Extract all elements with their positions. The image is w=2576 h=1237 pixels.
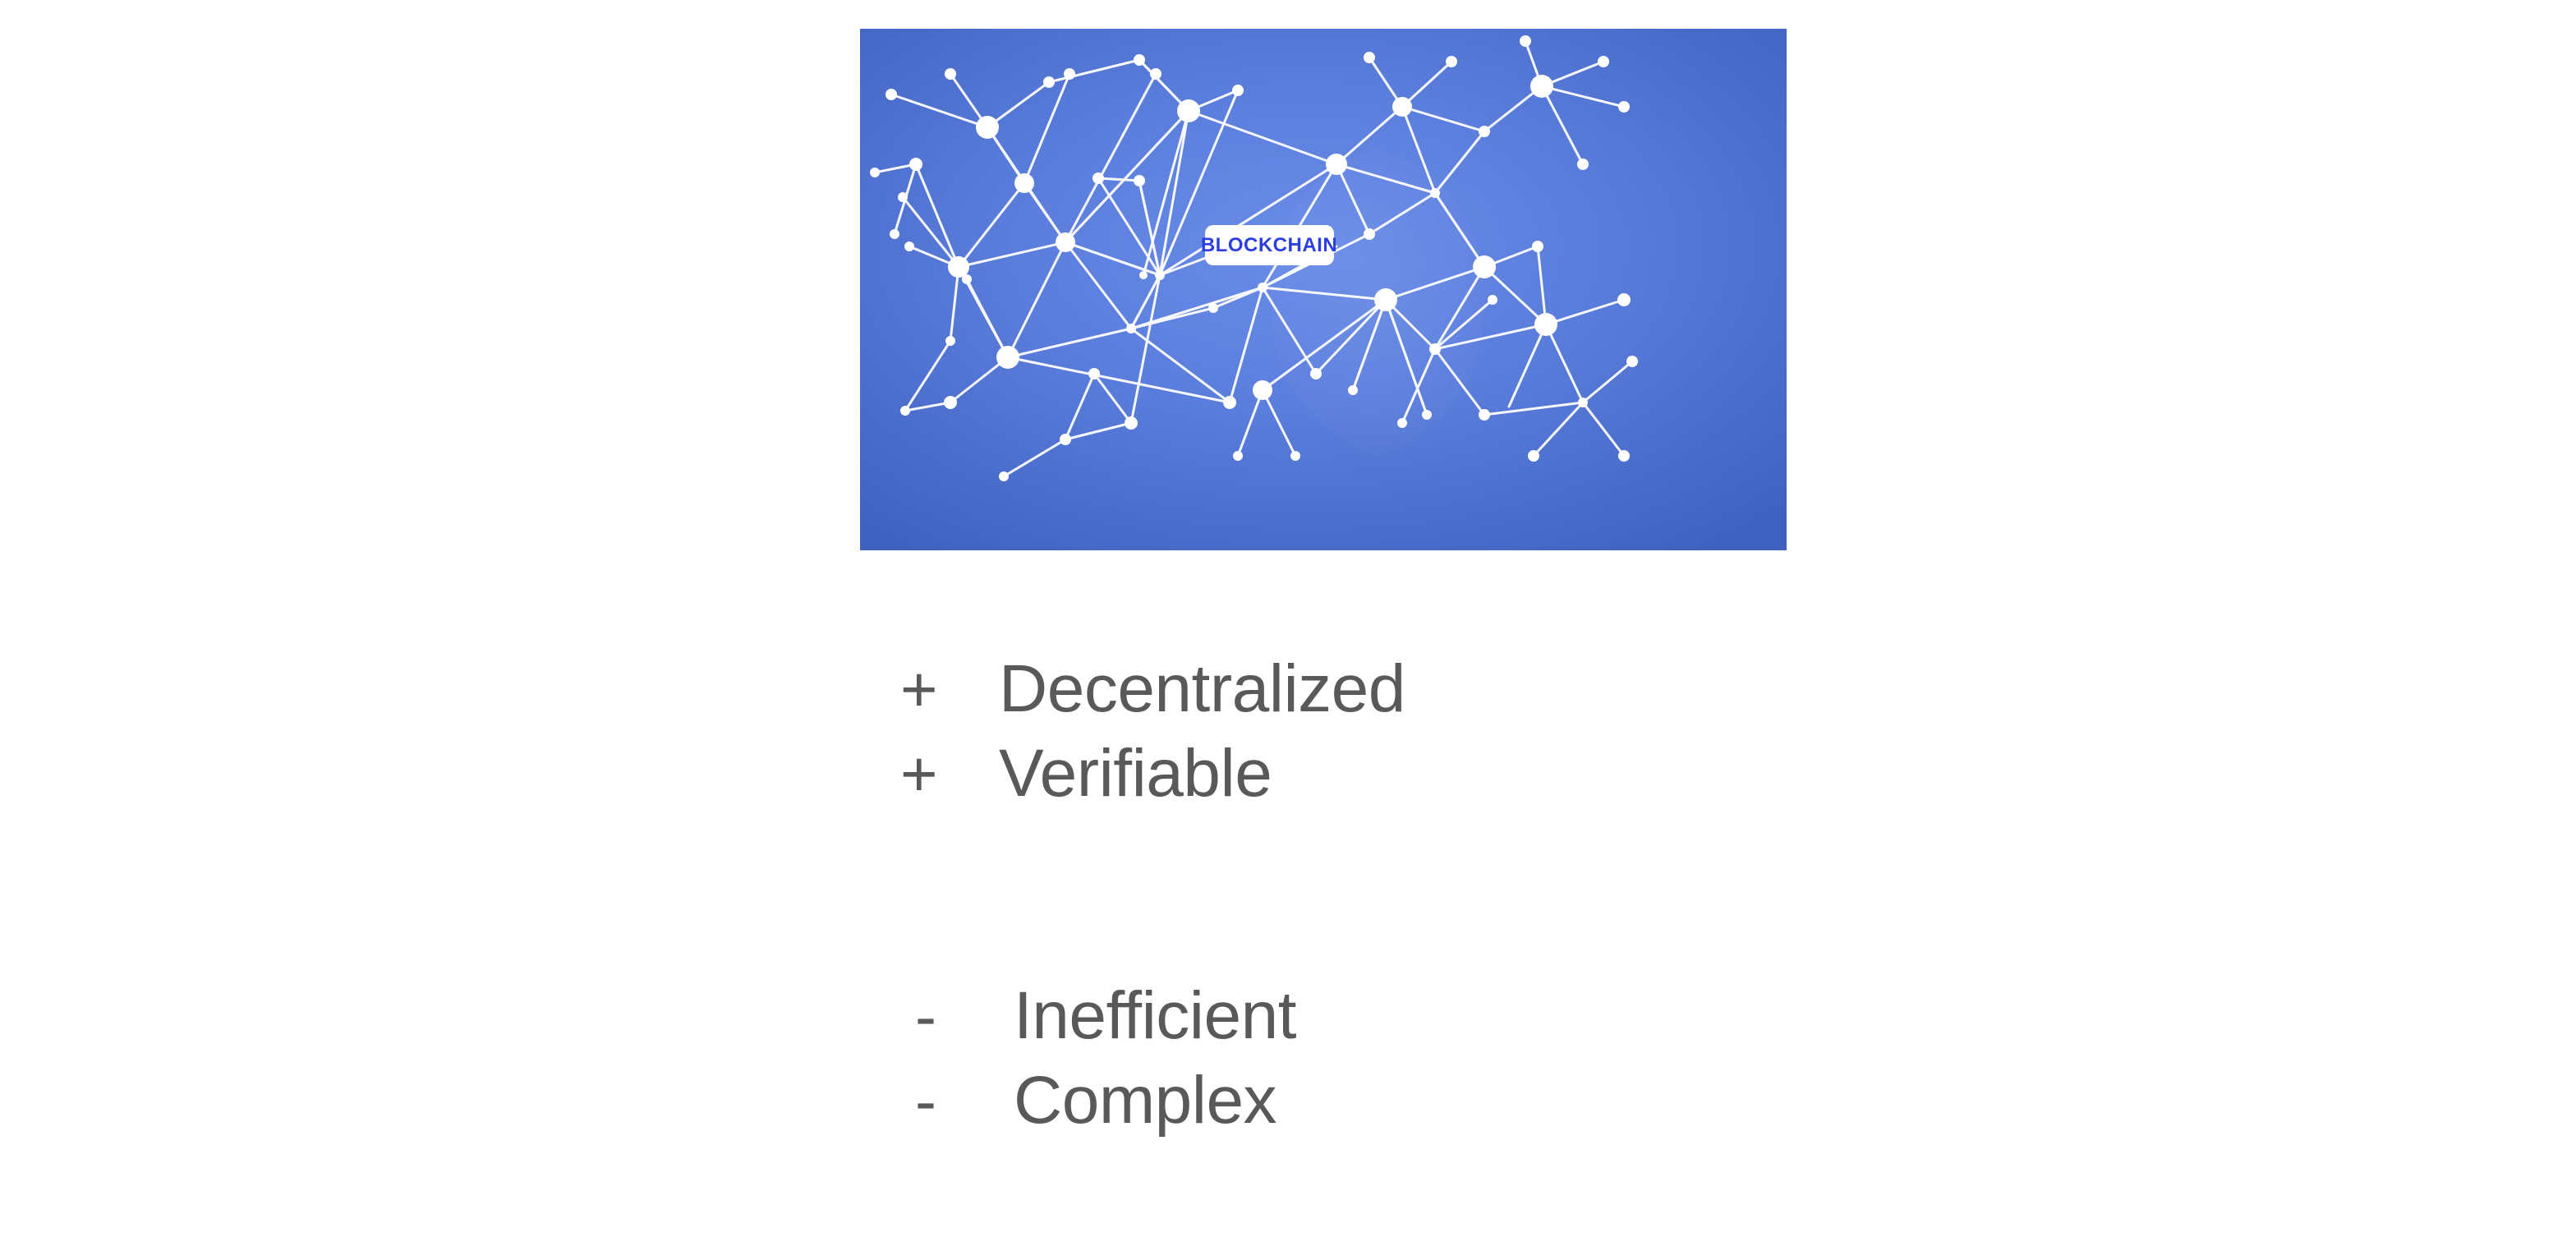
network-node (1125, 416, 1138, 430)
network-node (1422, 410, 1432, 420)
network-node (1392, 97, 1412, 117)
network-node (1150, 68, 1161, 80)
plus-icon: + (900, 657, 999, 721)
network-node (1126, 324, 1136, 333)
network-node (1374, 288, 1397, 311)
network-node (976, 116, 999, 139)
network-node (996, 346, 1019, 369)
network-node (898, 192, 908, 202)
network-node (1134, 54, 1145, 66)
blockchain-center-label: BLOCKCHAIN (1201, 234, 1337, 256)
network-node (1578, 398, 1588, 407)
pros-item-label: Verifiable (999, 740, 1272, 807)
network-node (944, 396, 957, 409)
network-node (909, 158, 922, 171)
network-node (1473, 255, 1496, 278)
network-node (1092, 172, 1104, 184)
network-node (1479, 409, 1490, 421)
blockchain-network-illustration: BLOCKCHAIN (860, 29, 1787, 550)
network-node (870, 168, 880, 177)
pros-list: + Decentralized + Verifiable (900, 655, 1405, 825)
network-node (1233, 451, 1243, 461)
list-item: - Inefficient (900, 982, 1296, 1067)
network-node (1530, 75, 1553, 98)
network-node (1598, 56, 1609, 67)
network-node (1618, 450, 1630, 462)
network-node (1088, 368, 1100, 379)
network-node (1532, 241, 1543, 252)
network-node (962, 274, 972, 284)
network-node (1479, 126, 1490, 137)
network-node (999, 471, 1009, 481)
network-graph-svg: BLOCKCHAIN (860, 29, 1787, 550)
network-node (1429, 343, 1441, 355)
cons-item-label: Inefficient (1014, 982, 1296, 1050)
network-node (1014, 173, 1034, 193)
network-node (890, 229, 899, 239)
network-node (1534, 313, 1557, 336)
network-node (945, 336, 955, 346)
network-node (1488, 295, 1497, 305)
minus-icon: - (900, 1069, 1014, 1133)
network-node (1177, 99, 1200, 122)
network-node (1520, 35, 1531, 47)
minus-icon: - (900, 984, 1014, 1048)
network-node (1060, 434, 1071, 445)
network-node (1364, 228, 1375, 240)
network-node (1430, 188, 1440, 198)
list-item: - Complex (900, 1067, 1296, 1152)
network-node (1155, 270, 1165, 280)
pros-item-label: Decentralized (999, 655, 1405, 723)
network-node (900, 406, 910, 416)
network-node (1446, 56, 1457, 67)
network-node (1064, 68, 1075, 80)
network-node (1223, 396, 1236, 409)
cons-list: - Inefficient - Complex (900, 982, 1296, 1152)
network-node (1139, 271, 1148, 279)
list-item: + Verifiable (900, 740, 1405, 825)
network-node (1326, 154, 1347, 175)
network-node (1056, 232, 1075, 252)
list-item: + Decentralized (900, 655, 1405, 740)
network-node (1253, 380, 1272, 400)
network-node (1617, 293, 1631, 306)
network-node (904, 241, 914, 251)
network-node (1528, 450, 1539, 462)
network-node (1618, 101, 1630, 113)
network-node (1208, 303, 1218, 313)
plus-icon: + (900, 742, 999, 806)
network-node (1310, 368, 1322, 379)
network-node (945, 68, 956, 80)
blockchain-center-badge: BLOCKCHAIN (1201, 225, 1337, 265)
network-node (1290, 451, 1300, 461)
cons-item-label: Complex (1014, 1067, 1276, 1134)
network-node (1258, 283, 1267, 292)
network-node (1134, 175, 1145, 186)
network-node (885, 89, 897, 100)
network-node (1348, 385, 1358, 395)
network-node (1626, 356, 1638, 367)
network-node (1364, 52, 1375, 63)
network-node (1232, 85, 1244, 96)
network-node (1397, 418, 1407, 428)
network-node (1577, 159, 1589, 170)
network-node (1043, 76, 1055, 88)
